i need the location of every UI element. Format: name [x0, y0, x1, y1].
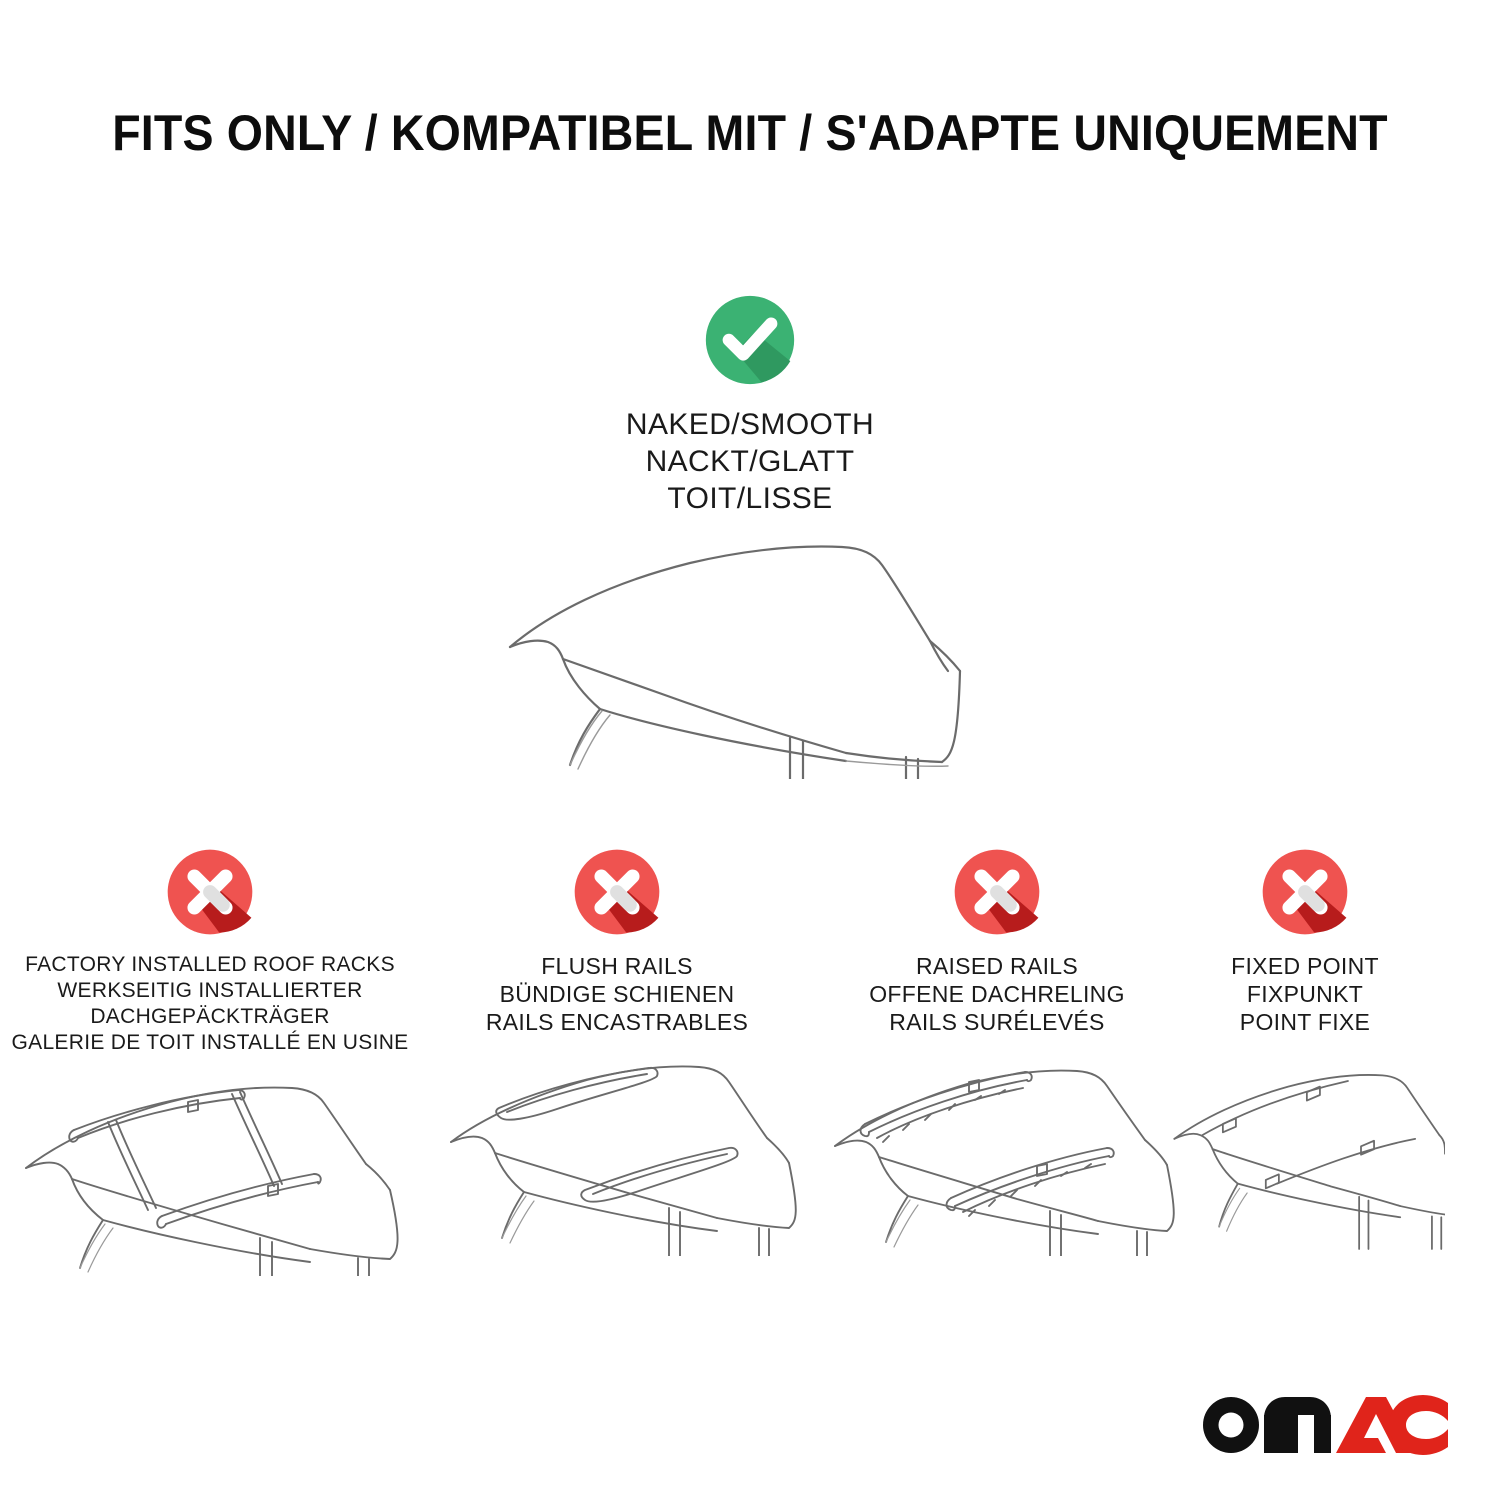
label-line: OFFENE DACHRELING — [869, 980, 1125, 1008]
compatible-label: NAKED/SMOOTH NACKT/GLATT TOIT/LISSE — [626, 406, 874, 517]
page-title: FITS ONLY / KOMPATIBEL MIT / S'ADAPTE UN… — [53, 104, 1448, 162]
roof-with-raised-rails-illustration — [817, 1046, 1177, 1256]
compatible-label-line-3: TOIT/LISSE — [626, 480, 874, 517]
incompatible-section: FACTORY INSTALLED ROOF RACKS WERKSEITIG … — [0, 846, 1500, 1316]
cross-circle-icon — [951, 846, 1043, 938]
label-line: RAILS ENCASTRABLES — [486, 1008, 748, 1036]
incompatible-item-fixed-point: FIXED POINT FIXPUNKT POINT FIXE — [1165, 846, 1445, 1256]
incompatible-item-flush-rails: FLUSH RAILS BÜNDIGE SCHIENEN RAILS ENCAS… — [437, 846, 797, 1256]
roof-with-factory-racks-illustration — [10, 1066, 410, 1276]
incompatible-item-factory-racks: FACTORY INSTALLED ROOF RACKS WERKSEITIG … — [10, 846, 410, 1276]
label-line: WERKSEITIG INSTALLIERTER — [12, 978, 409, 1004]
incompatible-label-flush-rails: FLUSH RAILS BÜNDIGE SCHIENEN RAILS ENCAS… — [486, 952, 748, 1036]
incompatible-label-raised-rails: RAISED RAILS OFFENE DACHRELING RAILS SUR… — [869, 952, 1125, 1036]
bare-roof-illustration — [490, 529, 1010, 779]
cross-circle-icon — [164, 846, 256, 938]
compatible-label-line-2: NACKT/GLATT — [626, 443, 874, 480]
check-circle-icon — [702, 292, 798, 388]
label-line: POINT FIXE — [1231, 1008, 1379, 1036]
label-line: BÜNDIGE SCHIENEN — [486, 980, 748, 1008]
label-line: FIXPUNKT — [1231, 980, 1379, 1008]
incompatible-item-raised-rails: RAISED RAILS OFFENE DACHRELING RAILS SUR… — [817, 846, 1177, 1256]
label-line: FIXED POINT — [1231, 952, 1379, 980]
roof-with-flush-rails-illustration — [437, 1046, 797, 1256]
incompatible-label-factory-racks: FACTORY INSTALLED ROOF RACKS WERKSEITIG … — [12, 952, 409, 1056]
label-line: DACHGEPÄCKTRÄGER — [12, 1004, 409, 1030]
label-line: FLUSH RAILS — [486, 952, 748, 980]
cross-circle-icon — [1259, 846, 1351, 938]
omac-logo — [1198, 1384, 1448, 1458]
label-line: GALERIE DE TOIT INSTALLÉ EN USINE — [12, 1030, 409, 1056]
label-line: RAISED RAILS — [869, 952, 1125, 980]
roof-with-fixed-points-illustration — [1165, 1046, 1445, 1256]
cross-circle-icon — [571, 846, 663, 938]
label-line: FACTORY INSTALLED ROOF RACKS — [12, 952, 409, 978]
compatible-label-line-1: NAKED/SMOOTH — [626, 406, 874, 443]
compatible-section: NAKED/SMOOTH NACKT/GLATT TOIT/LISSE — [0, 292, 1500, 779]
label-line: RAILS SURÉLEVÉS — [869, 1008, 1125, 1036]
incompatible-label-fixed-point: FIXED POINT FIXPUNKT POINT FIXE — [1231, 952, 1379, 1036]
